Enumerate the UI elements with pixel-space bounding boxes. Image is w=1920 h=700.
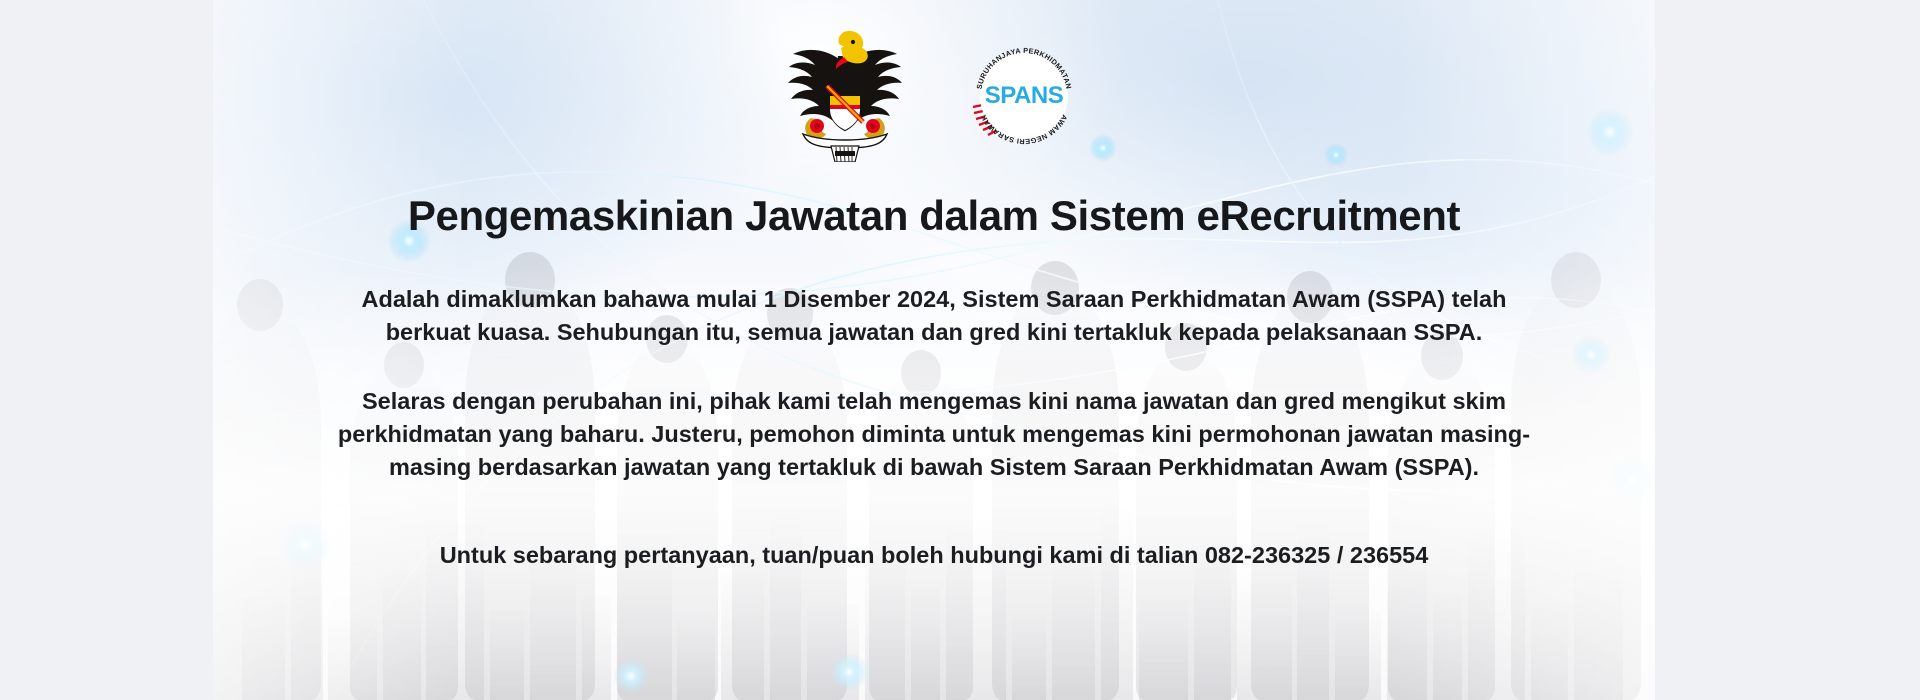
spans-acronym: SPANS bbox=[985, 82, 1064, 109]
announcement-paragraph-2: Selaras dengan perubahan ini, pihak kami… bbox=[309, 385, 1559, 484]
sarawak-coat-of-arms-icon bbox=[781, 26, 909, 162]
spans-logo-icon: SURUHANJAYA PERKHIDMATAN AWAM NEGERI SAR… bbox=[961, 26, 1087, 159]
announcement-paragraph-1: Adalah dimaklumkan bahawa mulai 1 Disemb… bbox=[322, 283, 1547, 349]
announcement-content: SURUHANJAYA PERKHIDMATAN AWAM NEGERI SAR… bbox=[213, 0, 1655, 700]
logo-row: SURUHANJAYA PERKHIDMATAN AWAM NEGERI SAR… bbox=[265, 26, 1603, 164]
announcement-banner: SURUHANJAYA PERKHIDMATAN AWAM NEGERI SAR… bbox=[213, 0, 1655, 700]
page-title: Pengemaskinian Jawatan dalam Sistem eRec… bbox=[265, 192, 1603, 239]
page-root: SURUHANJAYA PERKHIDMATAN AWAM NEGERI SAR… bbox=[0, 0, 1920, 700]
contact-line: Untuk sebarang pertanyaan, tuan/puan bol… bbox=[265, 539, 1603, 572]
